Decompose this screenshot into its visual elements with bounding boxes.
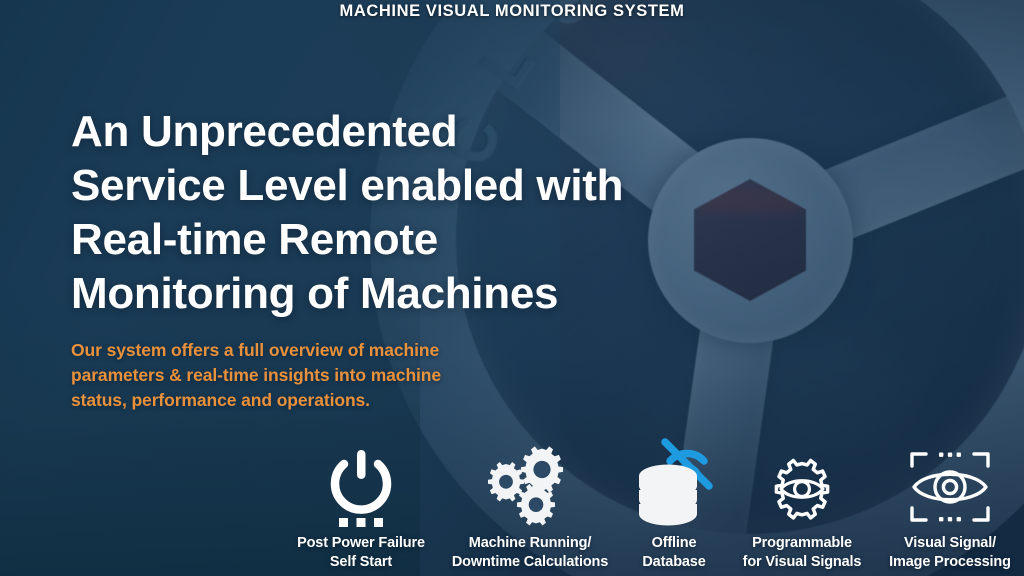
power-button-icon [324, 444, 398, 528]
headline-line: Monitoring of Machines [71, 267, 711, 321]
feature-item-programmable-visual-signals: Programmable for Visual Signals [728, 436, 876, 576]
hero-headline: An Unprecedented Service Level enabled w… [71, 105, 711, 321]
feature-label: Offline Database [642, 534, 705, 572]
scan-eye-icon [908, 444, 992, 528]
feature-item-post-power-failure: Post Power Failure Self Start [282, 436, 440, 576]
page-title: MACHINE VISUAL MONITORING SYSTEM [0, 2, 1024, 21]
slide-content: MACHINE VISUAL MONITORING SYSTEM An Unpr… [0, 0, 1024, 576]
feature-label: Machine Running/ Downtime Calculations [452, 534, 608, 572]
feature-list: Post Power Failure Self Start [282, 436, 1024, 576]
feature-item-machine-running: Machine Running/ Downtime Calculations [440, 436, 620, 576]
database-offline-icon [635, 444, 713, 528]
headline-line: Service Level enabled with [71, 159, 711, 213]
feature-label: Visual Signal/ Image Processing [889, 534, 1011, 572]
headline-line: An Unprecedented [71, 105, 711, 159]
headline-line: Real-time Remote [71, 213, 711, 267]
feature-label: Post Power Failure Self Start [297, 534, 425, 572]
gear-eye-icon [763, 444, 841, 528]
feature-label: Programmable for Visual Signals [743, 534, 862, 572]
hero-subheadline: Our system offers a full overview of mac… [71, 338, 541, 413]
feature-item-offline-database: Offline Database [620, 436, 728, 576]
feature-item-visual-signal-processing: Visual Signal/ Image Processing [876, 436, 1024, 576]
subheadline-line: Our system offers a full overview of mac… [71, 338, 541, 363]
subheadline-line: status, performance and operations. [71, 388, 541, 413]
gears-icon [484, 444, 576, 528]
subheadline-line: parameters & real-time insights into mac… [71, 363, 541, 388]
slide-root: CLOSE→ MACHINE VISUAL MONITORING SYSTEM … [0, 0, 1024, 576]
